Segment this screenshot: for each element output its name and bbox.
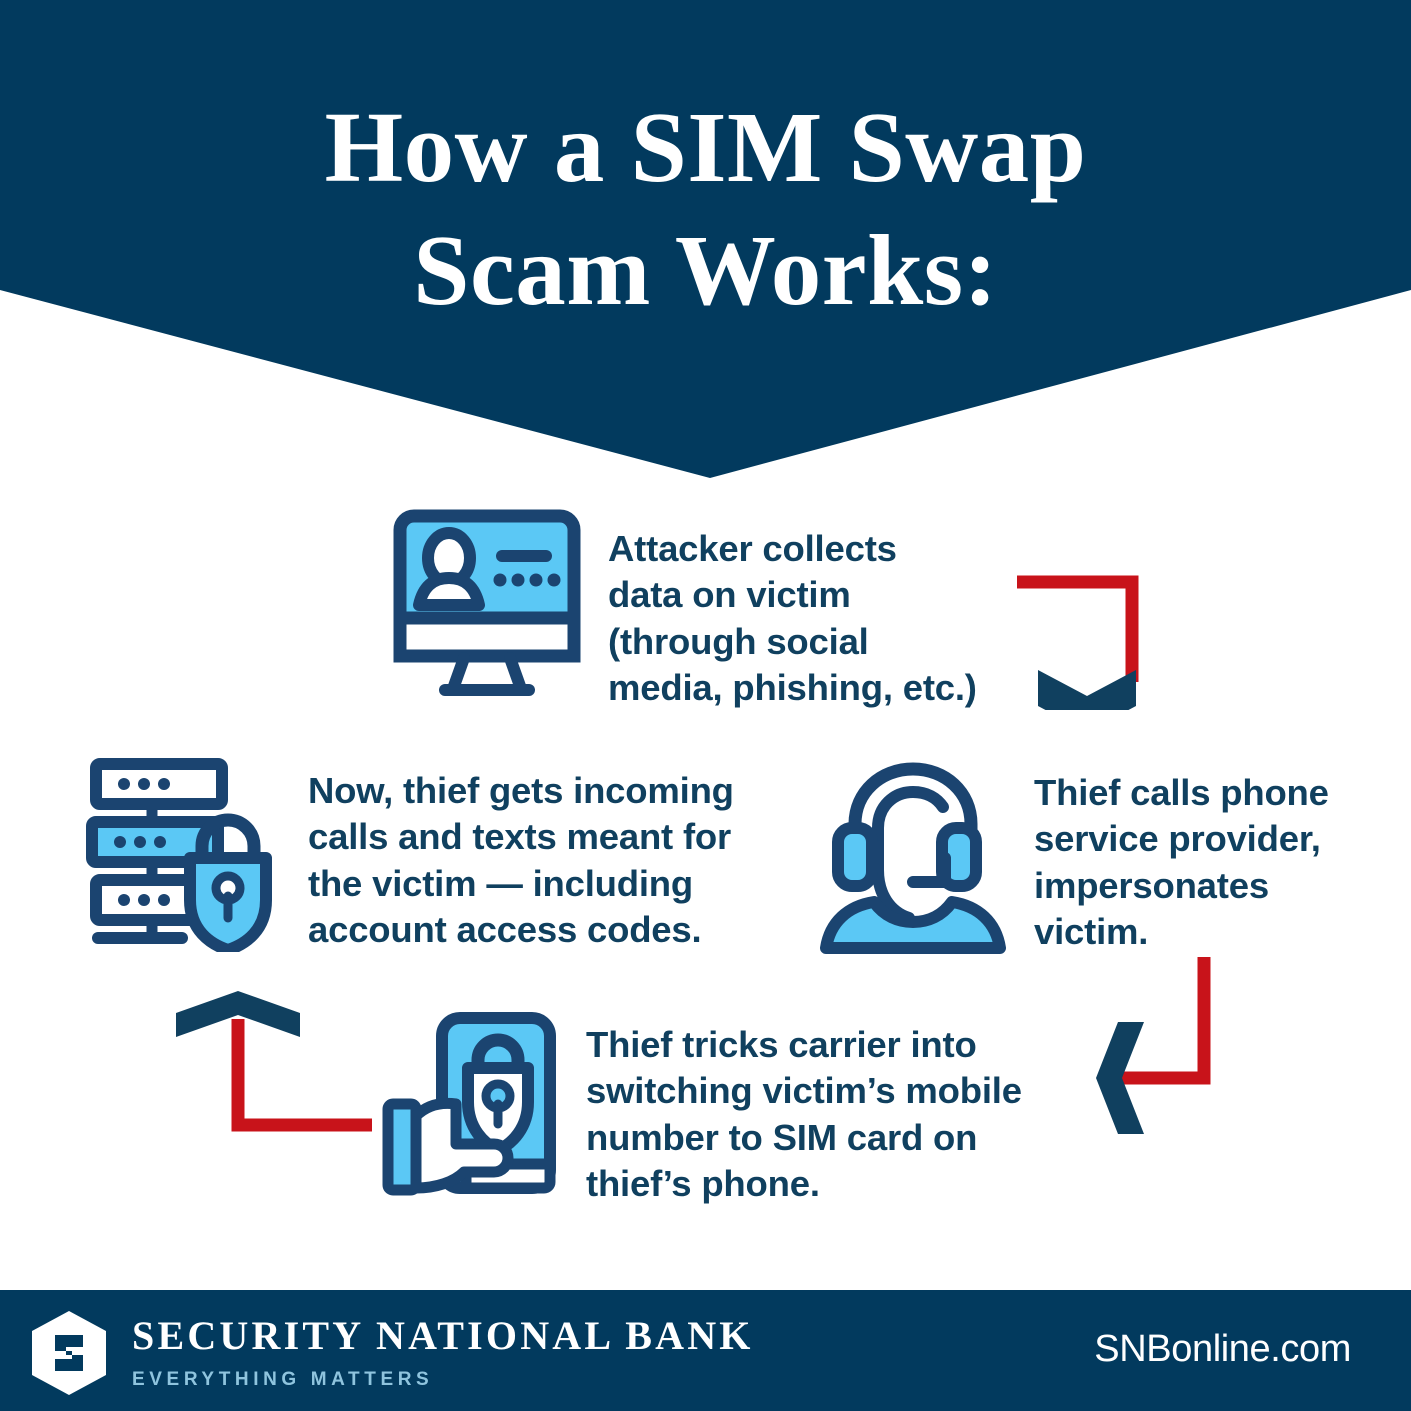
arrow-down-icon [1012, 570, 1162, 715]
headset-support-agent-icon [820, 758, 1006, 959]
step-4-text: Now, thief gets incoming calls and texts… [308, 768, 778, 953]
page-title: How a SIM Swap Scam Works: [0, 86, 1411, 332]
step-4: Now, thief gets incoming calls and texts… [86, 756, 778, 957]
arrow-left-icon [1082, 952, 1252, 1157]
step-1-text: Attacker collects data on victim (throug… [608, 526, 1038, 711]
step-1: Attacker collects data on victim (throug… [392, 508, 1038, 711]
desktop-monitor-user-data-icon [392, 508, 582, 708]
step-3: Thief tricks carrier into switching vict… [380, 1012, 1066, 1207]
snb-hexagon-s-logo [30, 1310, 108, 1401]
step-2-text: Thief calls phone service provider, impe… [1034, 770, 1374, 955]
hand-holding-phone-lock-icon [380, 1012, 564, 1205]
server-stack-padlock-icon [86, 756, 282, 957]
brand-tagline: EVERYTHING MATTERS [132, 1370, 754, 1389]
step-2: Thief calls phone service provider, impe… [820, 758, 1374, 959]
infographic-page: How a SIM Swap Scam Works: Attacker coll… [0, 0, 1411, 1411]
step-3-text: Thief tricks carrier into switching vict… [586, 1022, 1066, 1207]
arrow-up-icon [160, 985, 390, 1145]
brand-name: SECURITY NATIONAL BANK [132, 1316, 754, 1356]
footer-brand: SECURITY NATIONAL BANK EVERYTHING MATTER… [132, 1316, 754, 1389]
footer-url[interactable]: SNBonline.com [1094, 1330, 1351, 1368]
footer-bar: SECURITY NATIONAL BANK EVERYTHING MATTER… [0, 1290, 1411, 1411]
